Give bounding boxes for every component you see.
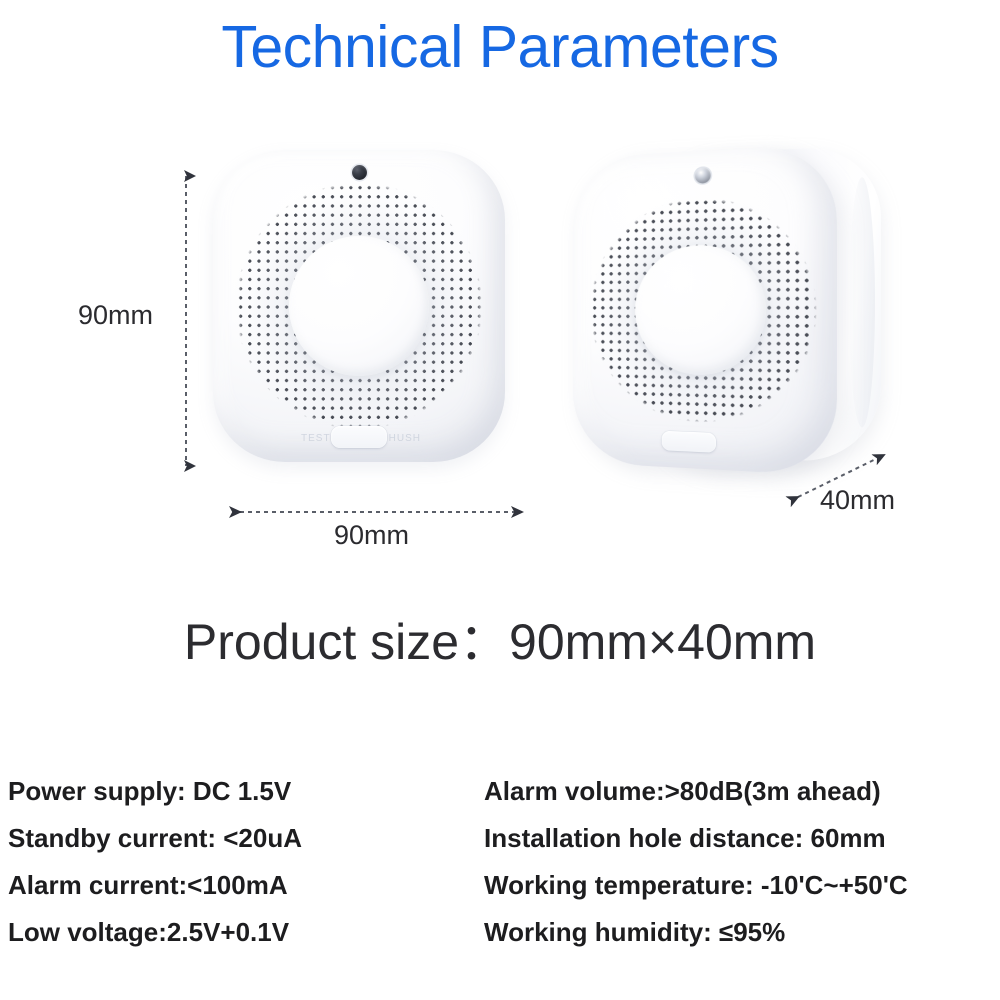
test-button[interactable] — [331, 426, 387, 448]
detector-marking-test: TEST — [301, 433, 331, 444]
smoke-detector-angled-view — [573, 142, 891, 472]
specs-column-left: Power supply: DC 1.5V Standby current: <… — [8, 768, 478, 956]
spec-item: Installation hole distance: 60mm — [484, 815, 1000, 862]
page-title: Technical Parameters — [0, 14, 1000, 82]
dimension-label-height: 90mm — [78, 300, 153, 331]
dimension-label-depth: 40mm — [820, 485, 895, 516]
specifications-section: Power supply: DC 1.5V Standby current: <… — [0, 768, 1000, 978]
detector-center-disc — [289, 236, 429, 376]
spec-item: Low voltage:2.5V+0.1V — [8, 909, 478, 956]
indicator-led-icon — [695, 167, 711, 183]
spec-item: Alarm volume:>80dB(3m ahead) — [484, 768, 1000, 815]
spec-item: Power supply: DC 1.5V — [8, 768, 478, 815]
specs-column-right: Alarm volume:>80dB(3m ahead) Installatio… — [484, 768, 1000, 956]
detector-marking-hush: HUSH — [389, 433, 421, 444]
indicator-led-icon — [352, 165, 367, 180]
spec-item: Alarm current:<100mA — [8, 862, 478, 909]
dimension-label-width: 90mm — [334, 520, 409, 551]
detector-front-face — [573, 144, 837, 476]
smoke-detector-front-view: TEST HUSH — [213, 150, 505, 462]
spec-item: Working humidity: ≤95% — [484, 909, 1000, 956]
spec-item: Standby current: <20uA — [8, 815, 478, 862]
product-size-caption: Product size：90mm×40mm — [0, 602, 1000, 674]
spec-item: Working temperature: -10'C~+50'C — [484, 862, 1000, 909]
test-button[interactable] — [662, 431, 716, 453]
